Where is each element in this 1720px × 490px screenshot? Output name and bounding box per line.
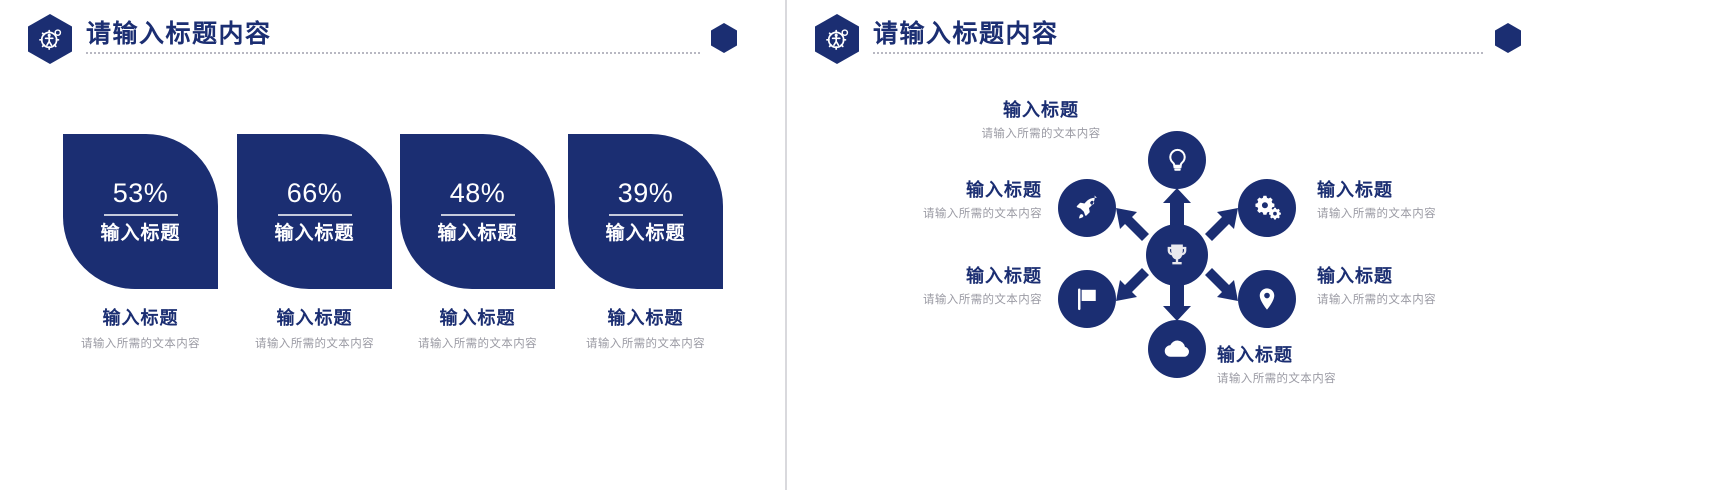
node-subtitle: 请输入所需的文本内容 xyxy=(1317,208,1587,221)
cloud-icon[interactable] xyxy=(1148,320,1206,378)
node-subtitle: 请输入所需的文本内容 xyxy=(1217,373,1487,386)
card-label: 输入标题 xyxy=(400,309,555,329)
hub-spoke-diagram: 输入标题 请输入所需的文本内容 输入标题 请输入所需的文本内容 输入标题 请输入… xyxy=(787,0,1720,490)
node-label-upper-left: 输入标题 请输入所需的文本内容 xyxy=(787,180,1042,221)
node-title: 输入标题 xyxy=(896,100,1186,121)
card-subtitle: 请输入所需的文本内容 xyxy=(237,338,392,352)
leaf-rule xyxy=(609,214,683,216)
percent-value: 48% xyxy=(450,180,506,207)
leaf-shape: 53% 输入标题 xyxy=(63,134,218,289)
node-label-lower-left: 输入标题 请输入所需的文本内容 xyxy=(787,266,1042,307)
node-label-top: 输入标题 请输入所需的文本内容 xyxy=(896,100,1186,141)
node-subtitle: 请输入所需的文本内容 xyxy=(1317,294,1587,307)
node-title: 输入标题 xyxy=(787,180,1042,201)
leaf-rule xyxy=(104,214,178,216)
node-subtitle: 请输入所需的文本内容 xyxy=(896,128,1186,141)
node-label-lower-right: 输入标题 请输入所需的文本内容 xyxy=(1317,266,1587,307)
leaf-title: 输入标题 xyxy=(605,224,685,243)
node-title: 输入标题 xyxy=(1317,266,1587,287)
node-label-bottom: 输入标题 请输入所需的文本内容 xyxy=(1217,345,1487,386)
gear-icon[interactable] xyxy=(1238,179,1296,237)
card-label: 输入标题 xyxy=(63,309,218,329)
percent-value: 66% xyxy=(287,180,343,207)
trophy-icon[interactable] xyxy=(1146,224,1208,286)
node-label-upper-right: 输入标题 请输入所需的文本内容 xyxy=(1317,180,1587,221)
leaf-rule xyxy=(441,214,515,216)
percent-value: 53% xyxy=(113,180,169,207)
card-label: 输入标题 xyxy=(568,309,723,329)
node-title: 输入标题 xyxy=(1317,180,1587,201)
flag-icon[interactable] xyxy=(1058,270,1116,328)
percent-value: 39% xyxy=(618,180,674,207)
leaf-shape: 39% 输入标题 xyxy=(568,134,723,289)
slide-deck: 请输入标题内容 53% 输入标题 输入标题 请输入所需的文本内容 66% 输入标… xyxy=(0,0,1720,490)
leaf-card-group: 53% 输入标题 输入标题 请输入所需的文本内容 66% 输入标题 输入标题 请… xyxy=(0,0,785,490)
card-subtitle: 请输入所需的文本内容 xyxy=(568,338,723,352)
card-subtitle: 请输入所需的文本内容 xyxy=(63,338,218,352)
node-title: 输入标题 xyxy=(1217,345,1487,366)
leaf-rule xyxy=(278,214,352,216)
node-subtitle: 请输入所需的文本内容 xyxy=(787,208,1042,221)
rocket-icon[interactable] xyxy=(1058,179,1116,237)
leaf-card[interactable]: 53% 输入标题 输入标题 请输入所需的文本内容 xyxy=(63,134,218,352)
leaf-title: 输入标题 xyxy=(437,224,517,243)
connector-arrows xyxy=(787,0,1720,490)
slide-right: 请输入标题内容 xyxy=(787,0,1720,490)
node-subtitle: 请输入所需的文本内容 xyxy=(787,294,1042,307)
leaf-title: 输入标题 xyxy=(100,224,180,243)
leaf-title: 输入标题 xyxy=(274,224,354,243)
leaf-shape: 66% 输入标题 xyxy=(237,134,392,289)
card-label: 输入标题 xyxy=(237,309,392,329)
slide-left: 请输入标题内容 53% 输入标题 输入标题 请输入所需的文本内容 66% 输入标… xyxy=(0,0,785,490)
leaf-card[interactable]: 48% 输入标题 输入标题 请输入所需的文本内容 xyxy=(400,134,555,352)
card-subtitle: 请输入所需的文本内容 xyxy=(400,338,555,352)
node-title: 输入标题 xyxy=(787,266,1042,287)
leaf-card[interactable]: 39% 输入标题 输入标题 请输入所需的文本内容 xyxy=(568,134,723,352)
leaf-card[interactable]: 66% 输入标题 输入标题 请输入所需的文本内容 xyxy=(237,134,392,352)
leaf-shape: 48% 输入标题 xyxy=(400,134,555,289)
pin-icon[interactable] xyxy=(1238,270,1296,328)
